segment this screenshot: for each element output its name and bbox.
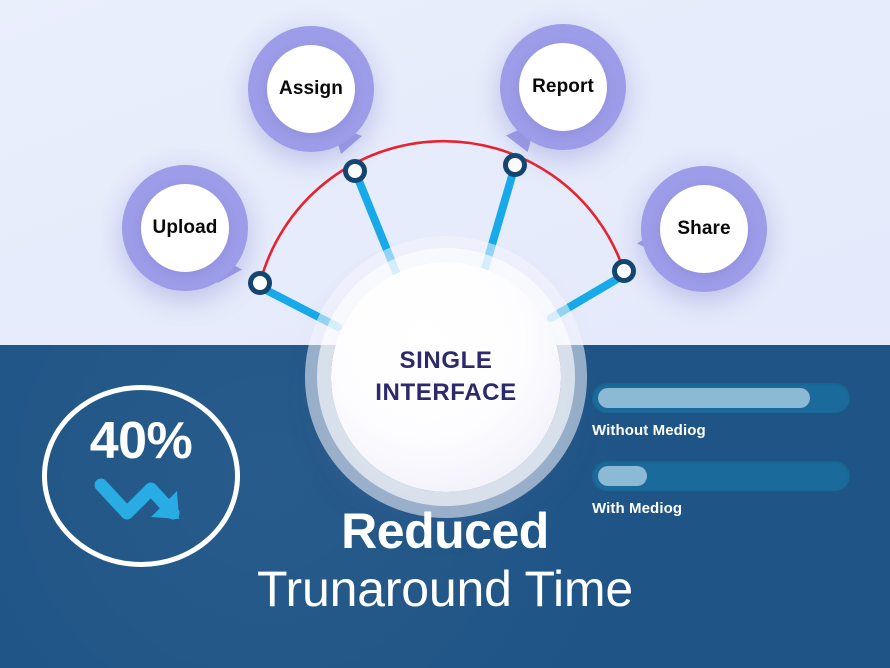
comparison-bars: Without Mediog With Mediog <box>592 383 854 539</box>
stat-badge-value: 40% <box>90 415 193 467</box>
infographic-canvas: Upload Assign Report Share SINGLE INTERF… <box>0 0 890 668</box>
bar-fill <box>598 388 810 408</box>
bar-track <box>592 383 850 413</box>
comparison-bar-without-mediog: Without Mediog <box>592 383 854 439</box>
bubble-node-report[interactable]: Report <box>500 24 626 150</box>
center-node-line1: SINGLE <box>400 345 493 377</box>
bubble-node-share[interactable]: Share <box>641 166 767 292</box>
bubble-label-upload: Upload <box>153 217 218 239</box>
bubble-node-upload[interactable]: Upload <box>122 165 248 291</box>
bubble-node-assign[interactable]: Assign <box>248 26 374 152</box>
bubble-label-assign: Assign <box>279 78 343 100</box>
bar-label-with-mediog: With Mediog <box>592 500 854 517</box>
bubble-label-share: Share <box>677 218 730 240</box>
bar-fill <box>598 466 647 486</box>
bubble-label-report: Report <box>532 76 594 98</box>
center-node-line2: INTERFACE <box>375 377 516 409</box>
bubble-inner: Share <box>660 185 748 273</box>
bar-track <box>592 461 850 491</box>
comparison-bar-with-mediog: With Mediog <box>592 461 854 517</box>
bubble-inner: Upload <box>141 184 229 272</box>
bar-label-without-mediog: Without Mediog <box>592 422 854 439</box>
headline-line2: Trunaround Time <box>0 560 890 618</box>
bubble-inner: Report <box>519 43 607 131</box>
bubble-inner: Assign <box>267 45 355 133</box>
center-node-single-interface: SINGLE INTERFACE <box>331 262 561 492</box>
